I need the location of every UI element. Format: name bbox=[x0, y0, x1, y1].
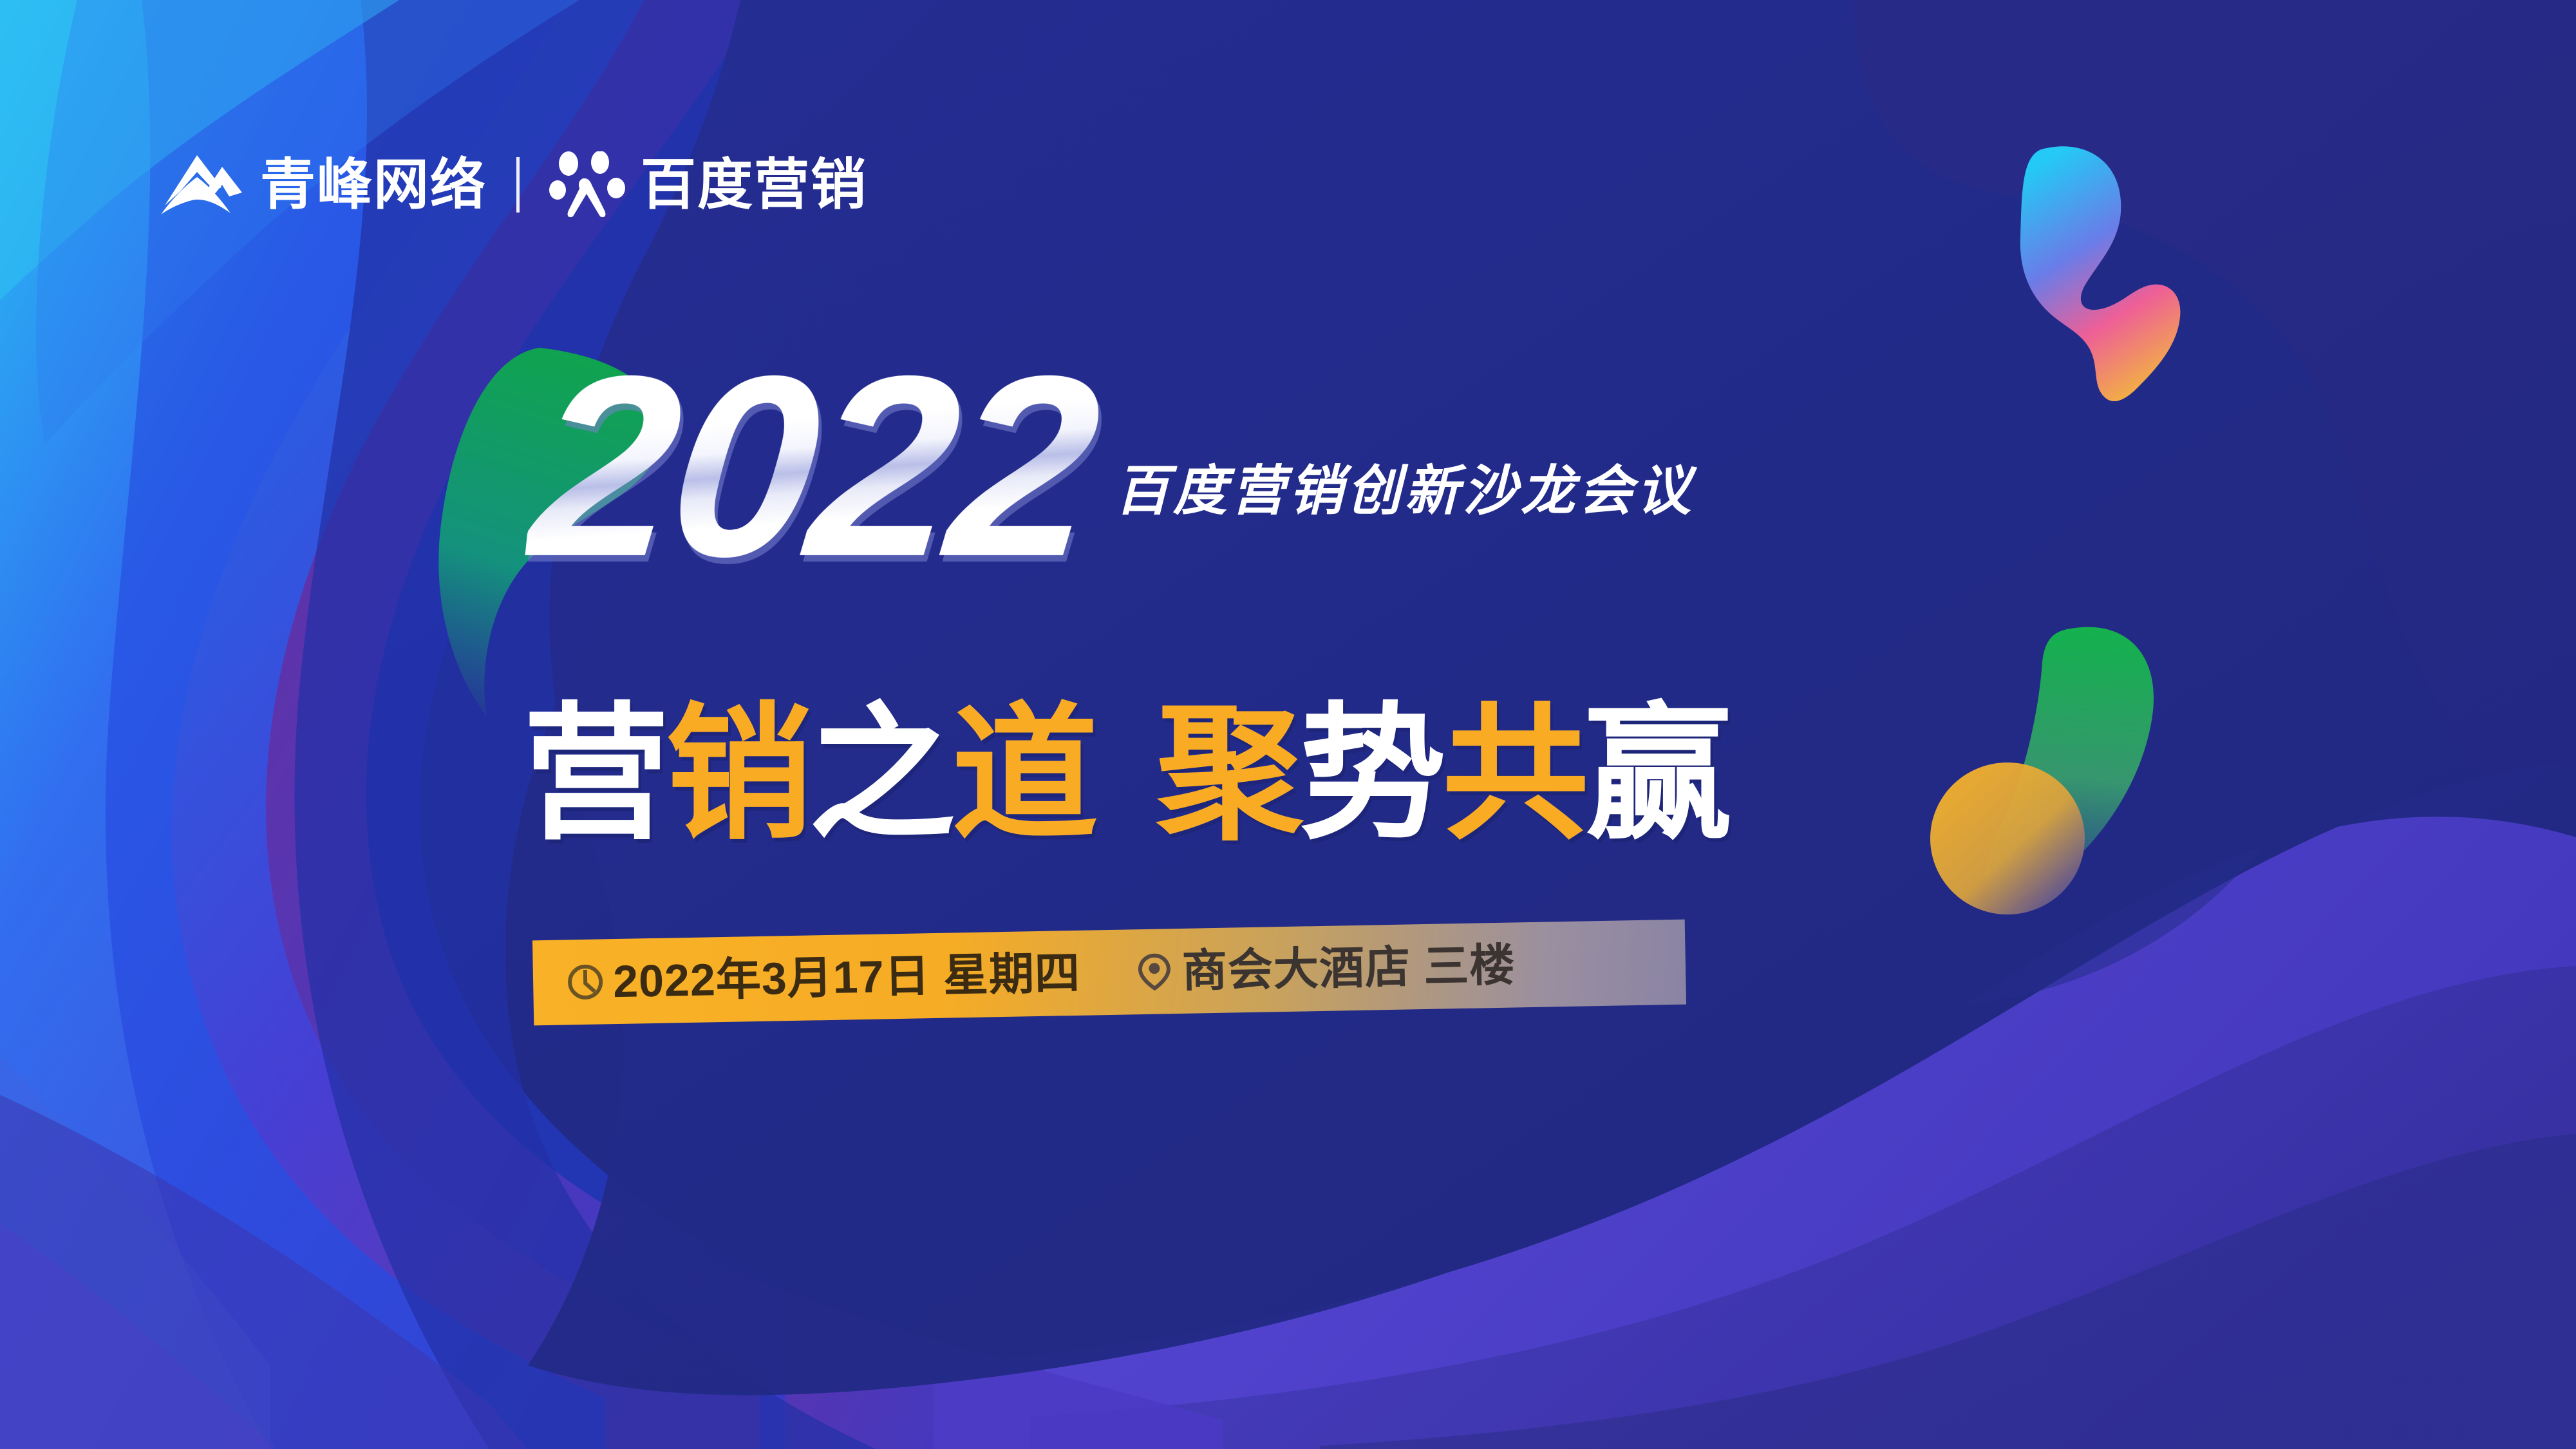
headline-char: 营 bbox=[523, 701, 666, 848]
clock-icon bbox=[567, 963, 605, 1001]
headline-char: 销 bbox=[666, 701, 809, 848]
baidu-logo[interactable]: 百度营销 bbox=[549, 151, 867, 218]
logo-divider bbox=[516, 157, 520, 213]
hero-headline: 营 销 之 道 聚 势 共 赢 bbox=[523, 701, 1728, 848]
headline-char: 共 bbox=[1442, 701, 1585, 848]
logo-row: 青峰网络 百度营销 bbox=[160, 143, 867, 227]
headline-char: 势 bbox=[1299, 701, 1442, 848]
hero-year: 2022 bbox=[523, 361, 1114, 572]
hero-year-block: 2022 百度营销创新沙龙会议 bbox=[534, 361, 1695, 572]
headline-char: 之 bbox=[809, 701, 952, 848]
qingfeng-logo-text: 青峰网络 bbox=[260, 157, 487, 213]
event-banner: 青峰网络 百度营销 2022 百度营销创新沙龙会议 营 销 之 道 聚 势 共 bbox=[0, 0, 2576, 1449]
baidu-logo-text: 百度营销 bbox=[641, 157, 867, 213]
baidu-paw-icon bbox=[549, 151, 626, 218]
location-pin-icon bbox=[1135, 952, 1173, 990]
hero-subtitle: 百度营销创新沙龙会议 bbox=[1115, 448, 1695, 526]
headline-char: 道 bbox=[952, 701, 1095, 848]
mountain-peaks-icon bbox=[160, 151, 245, 218]
event-date-text: 2022年3月17日 星期四 bbox=[612, 951, 1080, 1004]
qingfeng-logo[interactable]: 青峰网络 bbox=[160, 151, 487, 218]
headline-char: 赢 bbox=[1585, 701, 1728, 848]
event-date: 2022年3月17日 星期四 bbox=[567, 951, 1081, 1005]
event-venue-text: 商会大酒店 三楼 bbox=[1181, 942, 1516, 993]
event-venue: 商会大酒店 三楼 bbox=[1135, 942, 1516, 994]
headline-char: 聚 bbox=[1156, 701, 1299, 848]
info-bar-spacer bbox=[1080, 972, 1136, 973]
